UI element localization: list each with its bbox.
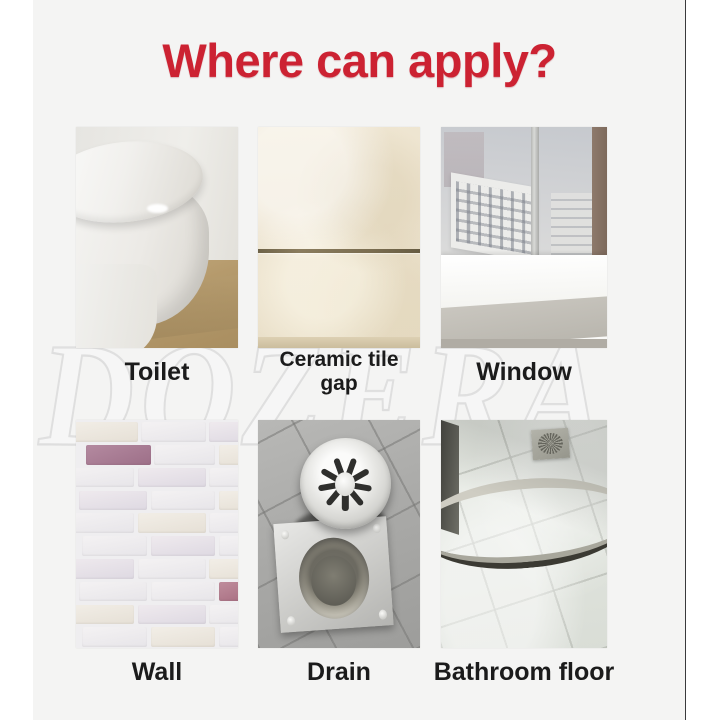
window-photo bbox=[441, 127, 607, 348]
brick bbox=[219, 627, 238, 647]
brick bbox=[151, 491, 216, 511]
caption-bathroom-floor-text: Bathroom floor bbox=[434, 658, 615, 686]
tile-base-strip bbox=[258, 337, 420, 348]
brick bbox=[79, 491, 147, 511]
brick bbox=[76, 605, 134, 625]
toilet-pedestal-shape bbox=[76, 264, 157, 348]
window-building-main bbox=[451, 172, 537, 262]
brick bbox=[141, 422, 206, 442]
window-mullion bbox=[531, 127, 539, 266]
brick-accent bbox=[86, 445, 151, 465]
caption-bathroom-floor: Bathroom floor bbox=[423, 658, 625, 686]
caption-window: Window bbox=[431, 358, 617, 386]
drain-screw bbox=[281, 530, 290, 540]
drain-cover-hub bbox=[335, 472, 355, 496]
grid-cell-window[interactable] bbox=[441, 127, 607, 348]
caption-ceramic-tile-line2: gap bbox=[246, 372, 432, 396]
ceramic-tile-photo bbox=[258, 127, 420, 348]
brick bbox=[82, 627, 147, 647]
page-title: Where can apply? bbox=[33, 33, 686, 88]
brick bbox=[76, 559, 134, 579]
bathroom-floor-photo bbox=[441, 420, 607, 648]
brick bbox=[82, 536, 147, 556]
drain-screw bbox=[379, 610, 388, 620]
brick-wall-photo bbox=[76, 420, 238, 648]
brick bbox=[219, 445, 238, 465]
application-grid: Toilet Ceramic tile gap bbox=[33, 0, 686, 720]
brick bbox=[138, 513, 206, 533]
window-frame-right bbox=[592, 127, 607, 273]
grid-cell-bathroom-floor[interactable] bbox=[441, 420, 607, 648]
caption-window-text: Window bbox=[476, 358, 572, 386]
grid-cell-toilet[interactable] bbox=[76, 127, 238, 348]
toilet-photo bbox=[76, 127, 238, 348]
drain-screw bbox=[373, 524, 382, 534]
brick bbox=[219, 536, 238, 556]
poster-canvas: DOZERA Where can apply? Toilet bbox=[33, 0, 686, 720]
brick bbox=[76, 468, 134, 488]
brick bbox=[209, 468, 238, 488]
promo-poster: DOZERA Where can apply? Toilet bbox=[0, 0, 720, 720]
brick bbox=[209, 422, 238, 442]
brick bbox=[151, 536, 216, 556]
brick bbox=[79, 582, 147, 602]
floor-drain-photo bbox=[258, 420, 420, 648]
brick bbox=[209, 559, 238, 579]
grid-cell-ceramic-tile[interactable] bbox=[258, 127, 420, 348]
caption-wall: Wall bbox=[58, 658, 256, 686]
caption-wall-text: Wall bbox=[132, 658, 182, 686]
brick bbox=[76, 513, 134, 533]
grid-cell-wall[interactable] bbox=[76, 420, 238, 648]
caption-ceramic-tile-line1: Ceramic tile bbox=[246, 348, 432, 372]
caption-ceramic-tile: Ceramic tile gap bbox=[246, 348, 432, 395]
brick bbox=[209, 513, 238, 533]
brick bbox=[138, 559, 206, 579]
caption-drain-text: Drain bbox=[307, 658, 371, 686]
brick bbox=[154, 445, 216, 465]
caption-toilet-text: Toilet bbox=[125, 358, 190, 386]
tile-grout-gap bbox=[258, 249, 420, 253]
caption-toilet: Toilet bbox=[58, 358, 256, 386]
drain-frame bbox=[274, 516, 395, 633]
drain-opening bbox=[296, 535, 372, 621]
brick bbox=[76, 422, 138, 442]
brick bbox=[138, 468, 206, 488]
drain-grate-cover bbox=[300, 438, 391, 529]
window-bottom-edge bbox=[441, 339, 607, 348]
brick bbox=[151, 627, 216, 647]
brick bbox=[209, 605, 238, 625]
tile-texture bbox=[258, 127, 420, 348]
brick bbox=[138, 605, 206, 625]
brick bbox=[219, 491, 238, 511]
brick-accent bbox=[219, 582, 238, 602]
bathroom-floor-shading bbox=[441, 420, 607, 648]
grid-cell-drain[interactable] bbox=[258, 420, 420, 648]
drain-screw bbox=[287, 616, 296, 626]
caption-drain: Drain bbox=[246, 658, 432, 686]
brick bbox=[151, 582, 216, 602]
